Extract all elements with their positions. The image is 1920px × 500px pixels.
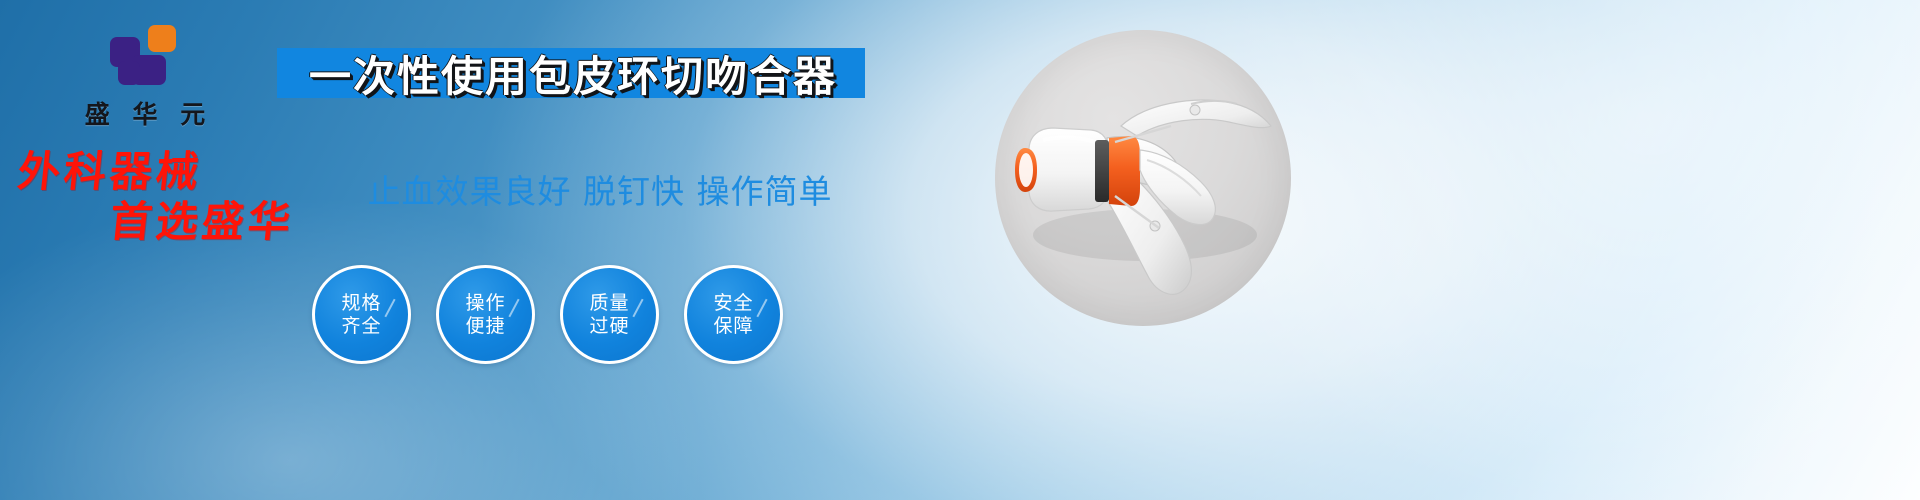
background-sheen-right <box>1200 0 1920 500</box>
promo-banner: 盛 华 元 外科器械 首选盛华 一次性使用包皮环切吻合器 止血效果良好 脱钉快 … <box>0 0 1920 500</box>
slash-decor-icon <box>508 299 519 318</box>
slash-decor-icon <box>632 299 643 318</box>
feature-badge-specs[interactable]: 规格 齐全 <box>312 265 411 364</box>
feature-badge-operation[interactable]: 操作 便捷 <box>436 265 535 364</box>
calligraphy-line-2: 首选盛华 <box>108 200 351 244</box>
slash-decor-icon <box>756 299 767 318</box>
brand-name: 盛 华 元 <box>55 95 235 131</box>
badge-label-line1: 安全 <box>713 292 753 314</box>
badge-label-line2: 齐全 <box>341 315 381 337</box>
badge-label-line1: 操作 <box>465 292 505 314</box>
calligraphy-slogan: 外科器械 首选盛华 <box>18 150 348 244</box>
subtitle: 止血效果良好 脱钉快 操作简单 <box>340 165 860 213</box>
logo-block-purple-bottom <box>118 61 140 85</box>
badge-label-line2: 便捷 <box>465 315 505 337</box>
feature-badge-quality[interactable]: 质量 过硬 <box>560 265 659 364</box>
page-title: 一次性使用包皮环切吻合器 <box>288 45 858 101</box>
badge-label-line2: 过硬 <box>589 315 629 337</box>
slash-decor-icon <box>384 299 395 318</box>
circumcision-stapler-photo-icon <box>995 30 1291 326</box>
feature-badge-safety[interactable]: 安全 保障 <box>684 265 783 364</box>
brand-logo-block[interactable]: 盛 华 元 <box>55 25 235 131</box>
feature-badge-list: 规格 齐全 操作 便捷 质量 过硬 安全 保障 <box>312 265 783 364</box>
calligraphy-line-1: 外科器械 <box>16 150 351 194</box>
shenghuayuan-blocks-logo-icon <box>110 25 180 87</box>
logo-block-orange <box>148 25 176 52</box>
badge-label-line2: 保障 <box>713 315 753 337</box>
badge-label-line1: 质量 <box>589 292 629 314</box>
badge-label-line1: 规格 <box>341 292 381 314</box>
